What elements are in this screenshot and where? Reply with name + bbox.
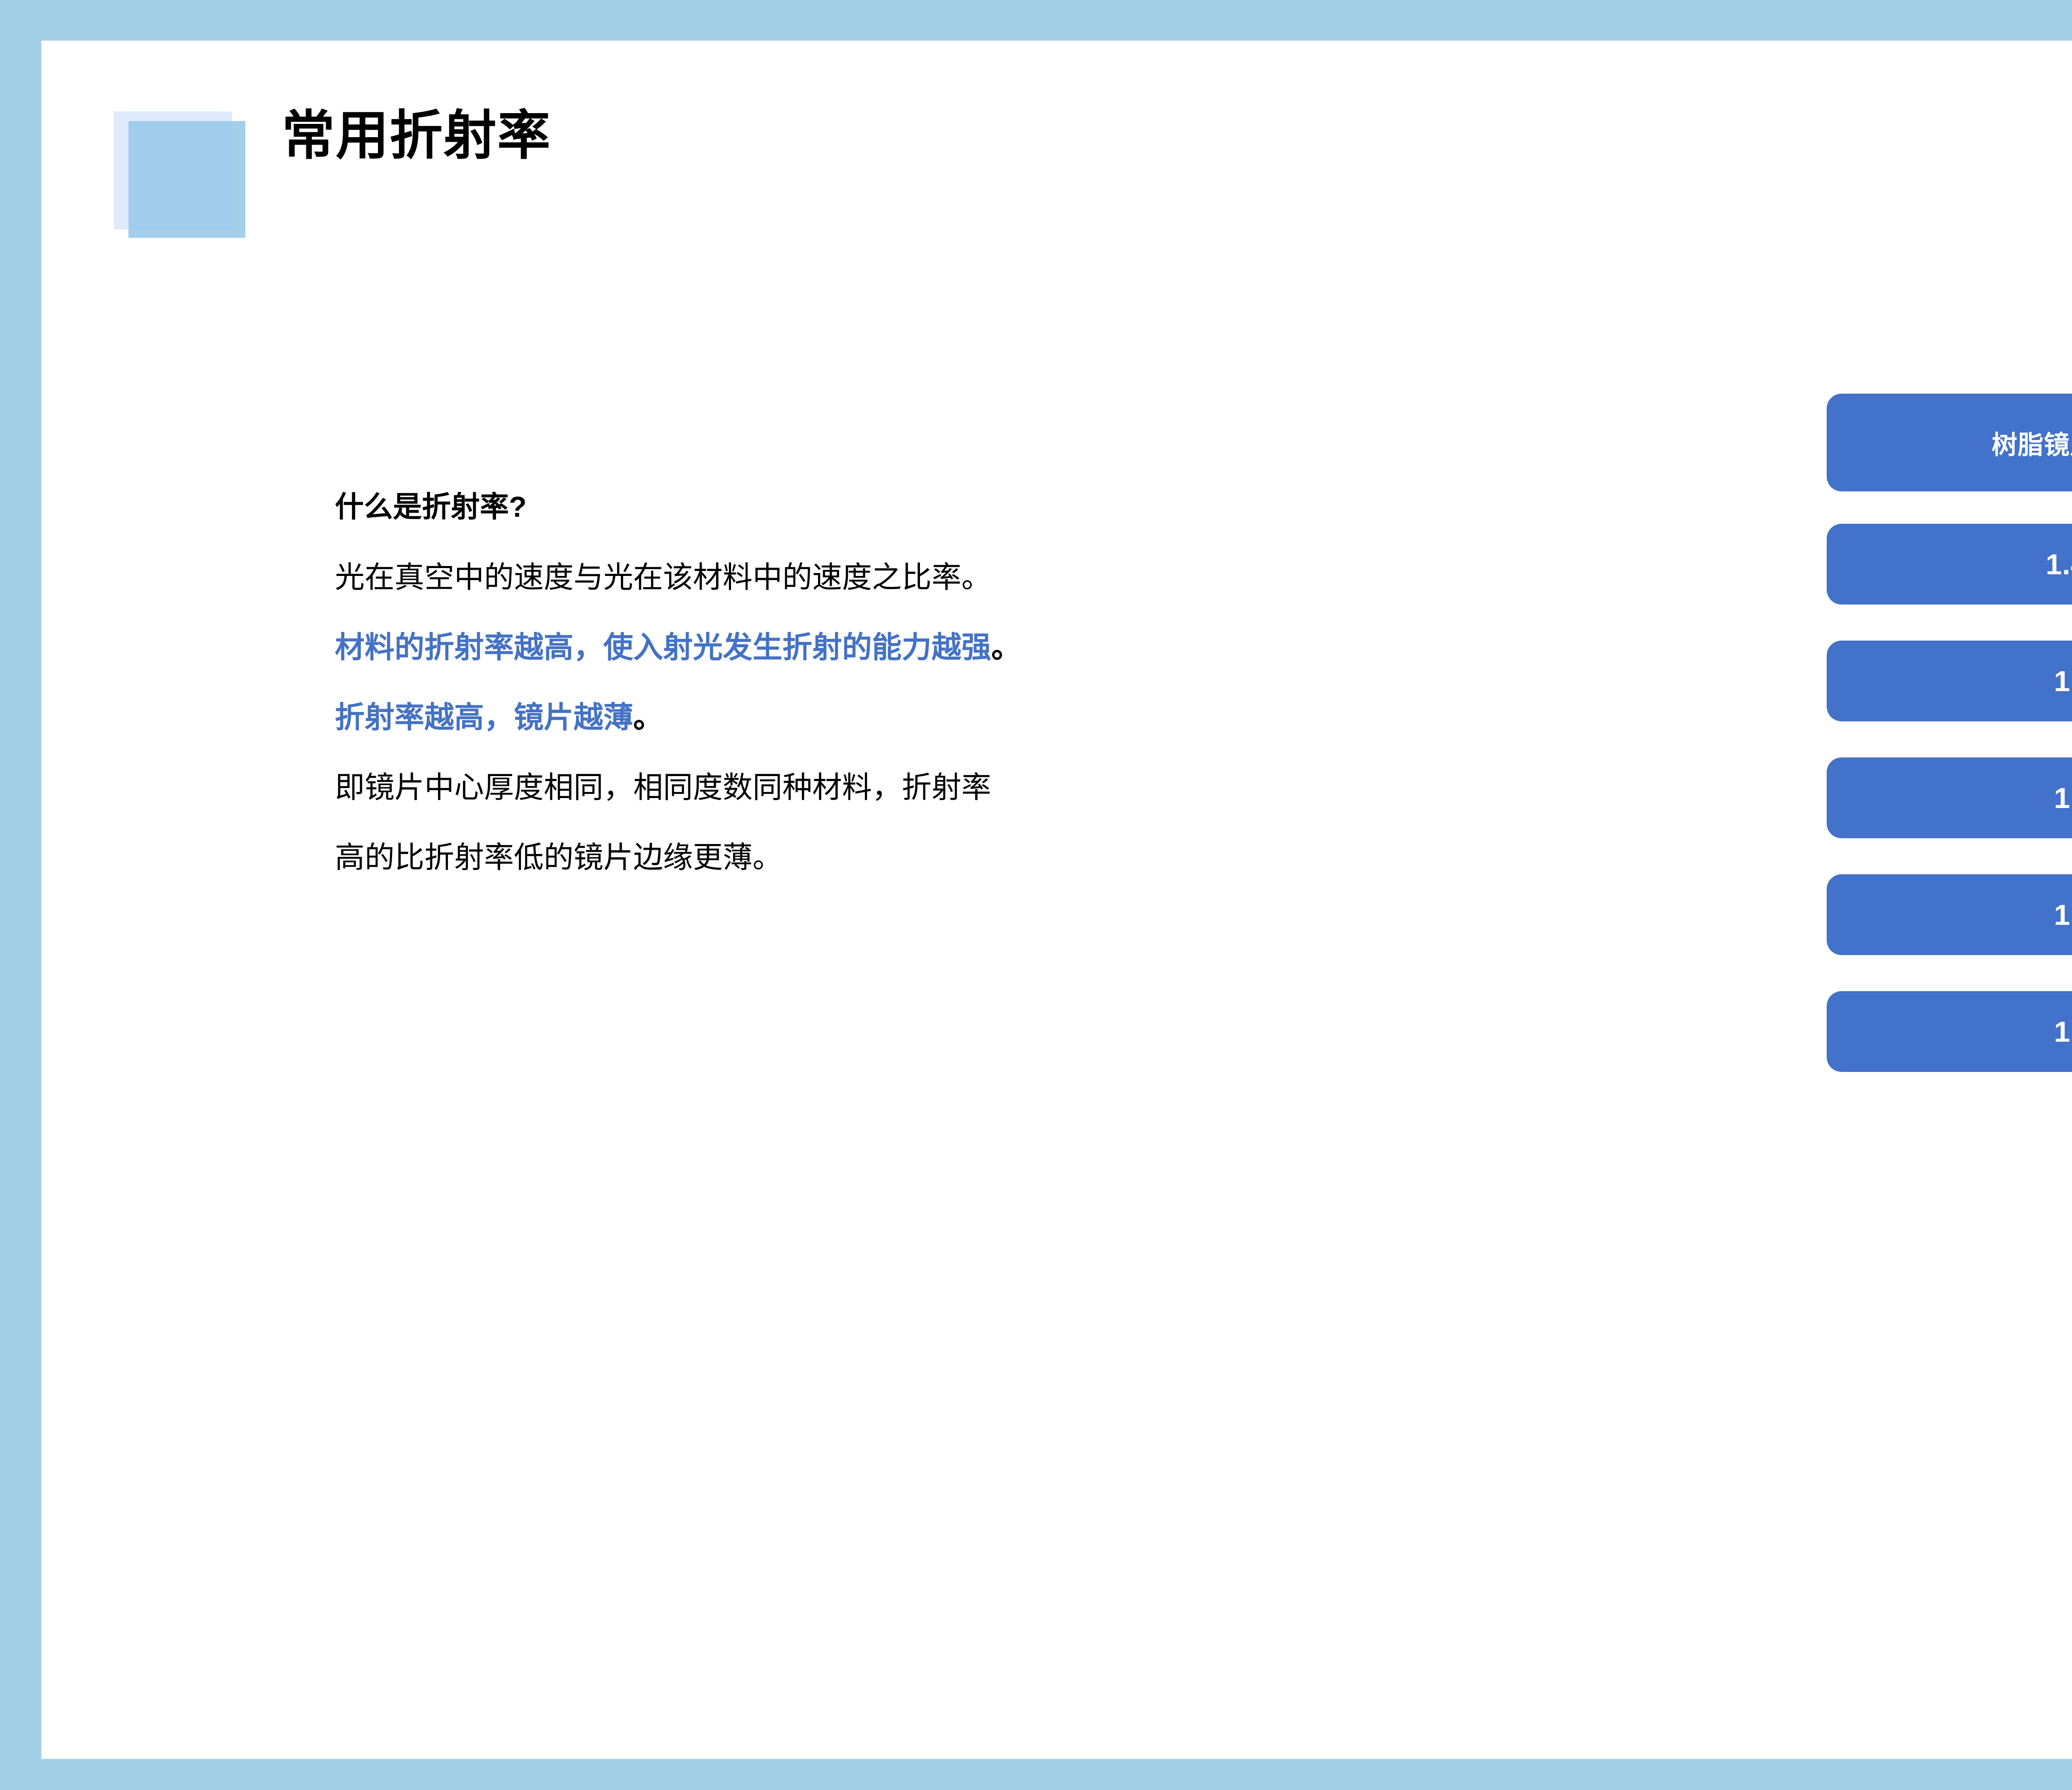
body-line-accent-2: 折射率越高，镜片越薄。 xyxy=(335,703,1578,733)
body-line-explain-1: 即镜片中心厚度相同，相同度数同种材料，折射率 xyxy=(335,773,1578,803)
refractive-index-table: 树脂镜片折射率 1.499 1.56 1.60 1.67 1.74 我们有的折射… xyxy=(1785,394,2072,1575)
body-line-definition: 光在真空中的速度与光在该材料中的速度之比率。 xyxy=(335,563,1578,593)
accent-tail-1: 。 xyxy=(991,631,1021,664)
accent-text-1: 材料的折射率越高，使入射光发生折射的能力越强 xyxy=(335,631,991,664)
column-header-resin: 树脂镜片折射率 xyxy=(1827,394,2072,491)
value-pill-resin-0: 1.499 xyxy=(1827,524,2072,605)
accent-text-2: 折射率越高，镜片越薄 xyxy=(335,701,633,734)
decoration-square-front xyxy=(128,121,245,238)
body-line-accent-1: 材料的折射率越高，使入射光发生折射的能力越强。 xyxy=(335,633,1578,663)
left-text-column: 什么是折射率? 光在真空中的速度与光在该材料中的速度之比率。 材料的折射率越高，… xyxy=(335,492,1578,913)
body-heading: 什么是折射率? xyxy=(335,492,1578,521)
page-title: 常用折射率 xyxy=(282,103,551,169)
table-column-resin: 树脂镜片折射率 1.499 1.56 1.60 1.67 1.74 xyxy=(1827,394,2072,1108)
body-line-explain-2: 高的比折射率低的镜片边缘更薄。 xyxy=(335,843,1578,873)
value-pill-resin-3: 1.67 xyxy=(1827,874,2072,955)
title-block: 常用折射率 xyxy=(41,41,2072,215)
value-pill-resin-1: 1.56 xyxy=(1827,641,2072,721)
value-pill-resin-2: 1.60 xyxy=(1827,757,2072,838)
accent-tail-2: 。 xyxy=(633,701,663,734)
value-pill-resin-4: 1.74 xyxy=(1827,991,2072,1072)
slide-card: 常用折射率 什么是折射率? 光在真空中的速度与光在该材料中的速度之比率。 材料的… xyxy=(41,41,2072,1759)
